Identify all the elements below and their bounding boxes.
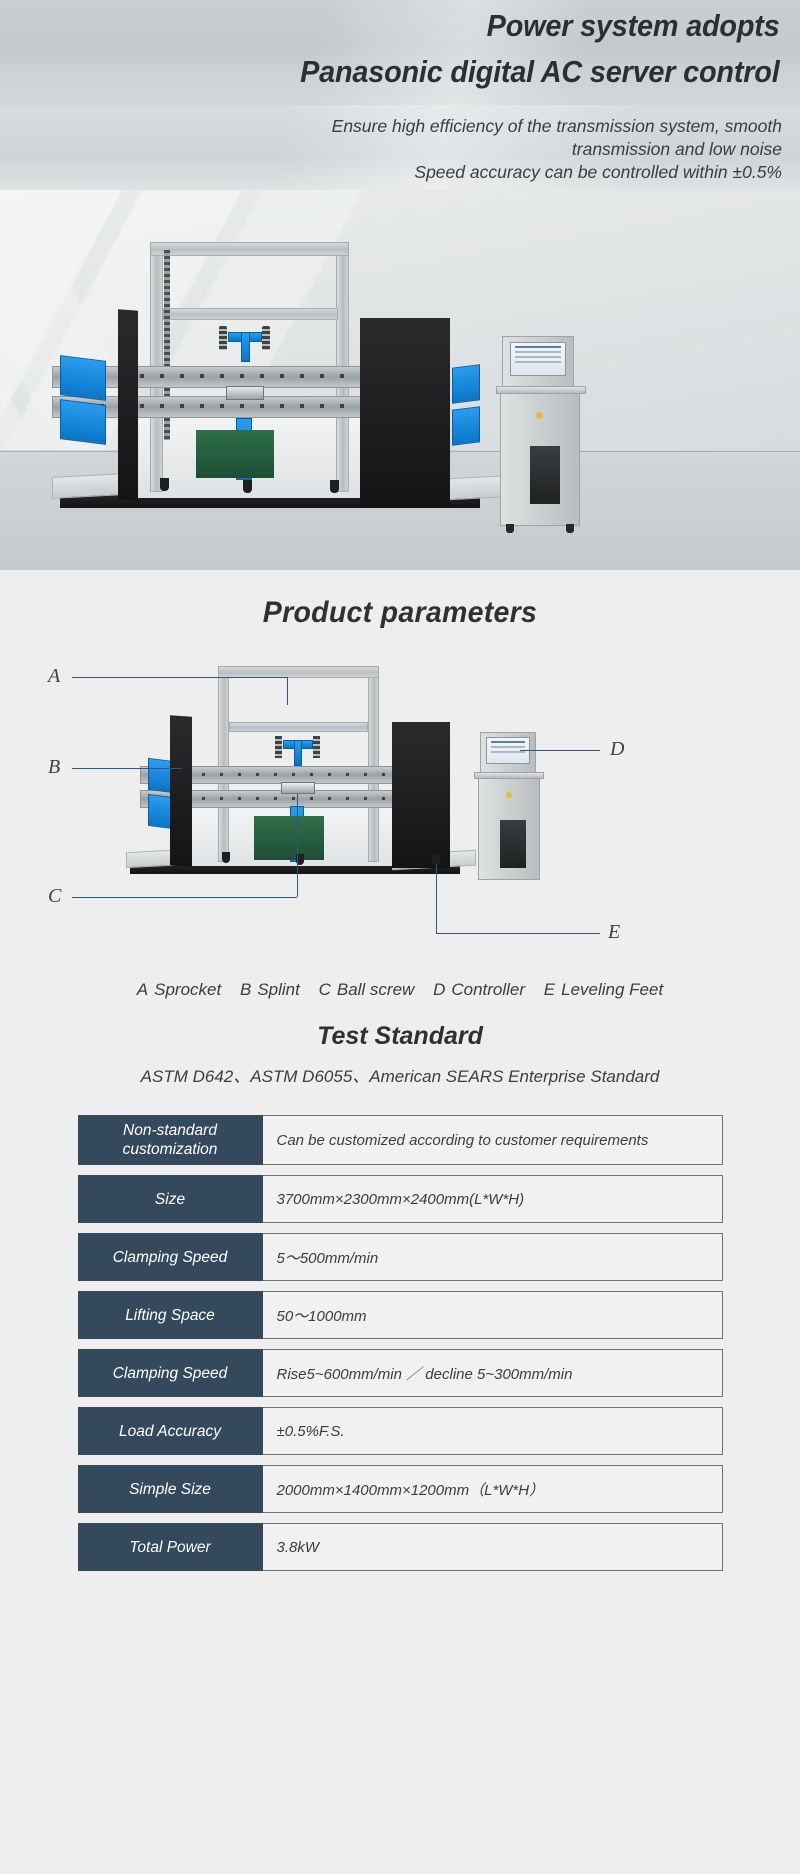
diagram-upright-left [218,666,229,862]
table-row: Load Accuracy ±0.5%F.S. [78,1407,723,1455]
diagram-splint-right [392,722,450,868]
controller-pc-tower [530,446,560,504]
hero-product-photo [0,190,800,570]
legend-name-e: Leveling Feet [561,980,663,999]
legend-name-d: Controller [451,980,525,999]
diagram-controller-lamp [506,792,512,798]
callout-label-a: A [48,665,60,688]
callout-label-c: C [48,885,61,908]
diagram-carriage-block [281,782,315,794]
callout-label-b: B [48,756,60,779]
leveling-foot-3 [330,480,339,493]
spec-value: 3.8kW [263,1523,723,1571]
legend-key-c: C [319,980,331,999]
controller-caster-left [506,524,514,533]
spec-label: Clamping Speed [78,1349,263,1397]
spec-value: Rise5~600mm/min ／ decline 5~300mm/min [263,1349,723,1397]
test-standard-text: ASTM D642、ASTM D6055、American SEARS Ente… [0,1062,800,1087]
diagram-sprocket-post [294,740,302,766]
sprocket-icon-2 [262,326,270,350]
leader-line-a-drop [287,677,288,705]
spec-label: Lifting Space [78,1291,263,1339]
clamp-unit-left-top [60,355,106,401]
subtitle-line3: Speed accuracy can be controlled within … [0,161,782,184]
spec-label: Simple Size [78,1465,263,1513]
subtitle-line2: transmission and low noise [0,138,782,161]
spec-label: Load Accuracy [78,1407,263,1455]
controller-indicator-lamp [536,412,543,419]
clamp-unit-left-bottom [60,399,106,445]
diagram-sprocket-icon-2 [313,736,320,758]
diagram-controller-pc-tower [500,820,526,868]
specification-table: Non-standard customization Can be custom… [78,1115,723,1615]
product-parameters-section: Product parameters [0,570,800,1615]
spec-value: 5～500mm/min [263,1233,723,1281]
table-row: Non-standard customization Can be custom… [78,1115,723,1165]
clamp-unit-right-top [452,364,480,403]
leader-line-e-drop [436,864,437,933]
header-banner: Power system adopts Panasonic digital AC… [0,0,800,105]
section-title-product-parameters: Product parameters [20,596,780,630]
leader-line-e [436,933,600,934]
spec-value: 2000mm×1400mm×1200mm（L*W*H） [263,1465,723,1513]
diagram-leveling-foot-1 [222,852,230,863]
spec-label: Non-standard customization [78,1115,263,1165]
legend-name-c: Ball screw [337,980,414,999]
leader-line-a [72,677,287,678]
spec-label: Clamping Speed [78,1233,263,1281]
gearbox-housing [196,430,274,478]
table-row: Clamping Speed 5～500mm/min [78,1233,723,1281]
sprocket-icon [219,326,227,350]
carriage-block [226,386,264,400]
spec-value: 50～1000mm [263,1291,723,1339]
table-row: Clamping Speed Rise5~600mm/min ／ decline… [78,1349,723,1397]
spec-value: Can be customized according to customer … [263,1115,723,1165]
sprocket-mount-post [241,332,250,362]
controller-caster-right [566,524,574,533]
rail-bolt-strip-upper [60,374,370,378]
splint-panel-right [360,318,450,506]
subtitle-line1: Ensure high efficiency of the transmissi… [0,115,782,138]
controller-shelf [496,386,586,394]
diagram-upright-right [368,666,379,862]
callout-label-d: D [610,738,624,761]
leader-line-c-rise [297,794,298,897]
diagram-splint-left [170,715,192,867]
spec-label: Size [78,1175,263,1223]
test-standard-title: Test Standard [0,1022,800,1051]
header-subtitle: Ensure high efficiency of the transmissi… [0,105,800,184]
header-title-line2: Panasonic digital AC server control [56,46,800,92]
leveling-foot-1 [160,478,169,491]
diagram-sprocket-icon [275,736,282,758]
legend-key-d: D [433,980,445,999]
rail-bolt-strip-lower [60,404,370,408]
callout-label-e: E [608,921,620,944]
product-page: Power system adopts Panasonic digital AC… [0,0,800,1615]
frame-mid-beam [163,308,338,320]
controller-screen [510,342,566,376]
leader-line-d [520,750,600,751]
legend-name-b: Splint [257,980,300,999]
legend-name-a: Sprocket [154,980,221,999]
splint-panel-left [118,309,138,500]
spec-value: 3700mm×2300mm×2400mm(L*W*H) [263,1175,723,1223]
header-subtitle-band: Ensure high efficiency of the transmissi… [0,105,800,190]
table-row: Simple Size 2000mm×1400mm×1200mm（L*W*H） [78,1465,723,1513]
diagram-controller-shelf [474,772,544,779]
labelled-diagram: A B C D E [0,644,800,974]
legend-key-a: A [137,980,148,999]
leveling-foot-2 [243,480,252,493]
table-row: Total Power 3.8kW [78,1523,723,1571]
spec-label: Total Power [78,1523,263,1571]
spec-value: ±0.5%F.S. [263,1407,723,1455]
table-row: Size 3700mm×2300mm×2400mm(L*W*H) [78,1175,723,1223]
legend-key-b: B [240,980,251,999]
leader-line-b [72,768,182,769]
leader-line-c [72,897,297,898]
clamp-unit-right-bottom [452,406,480,445]
table-row: Lifting Space 50～1000mm [78,1291,723,1339]
legend-key-e: E [544,980,555,999]
frame-top-beam [150,242,349,256]
diagram-legend: ASprocket BSplint CBall screw DControlle… [0,974,800,1000]
header-title-line1: Power system adopts [56,0,800,46]
diagram-gearbox [254,816,324,860]
diagram-mid-beam [229,722,368,732]
